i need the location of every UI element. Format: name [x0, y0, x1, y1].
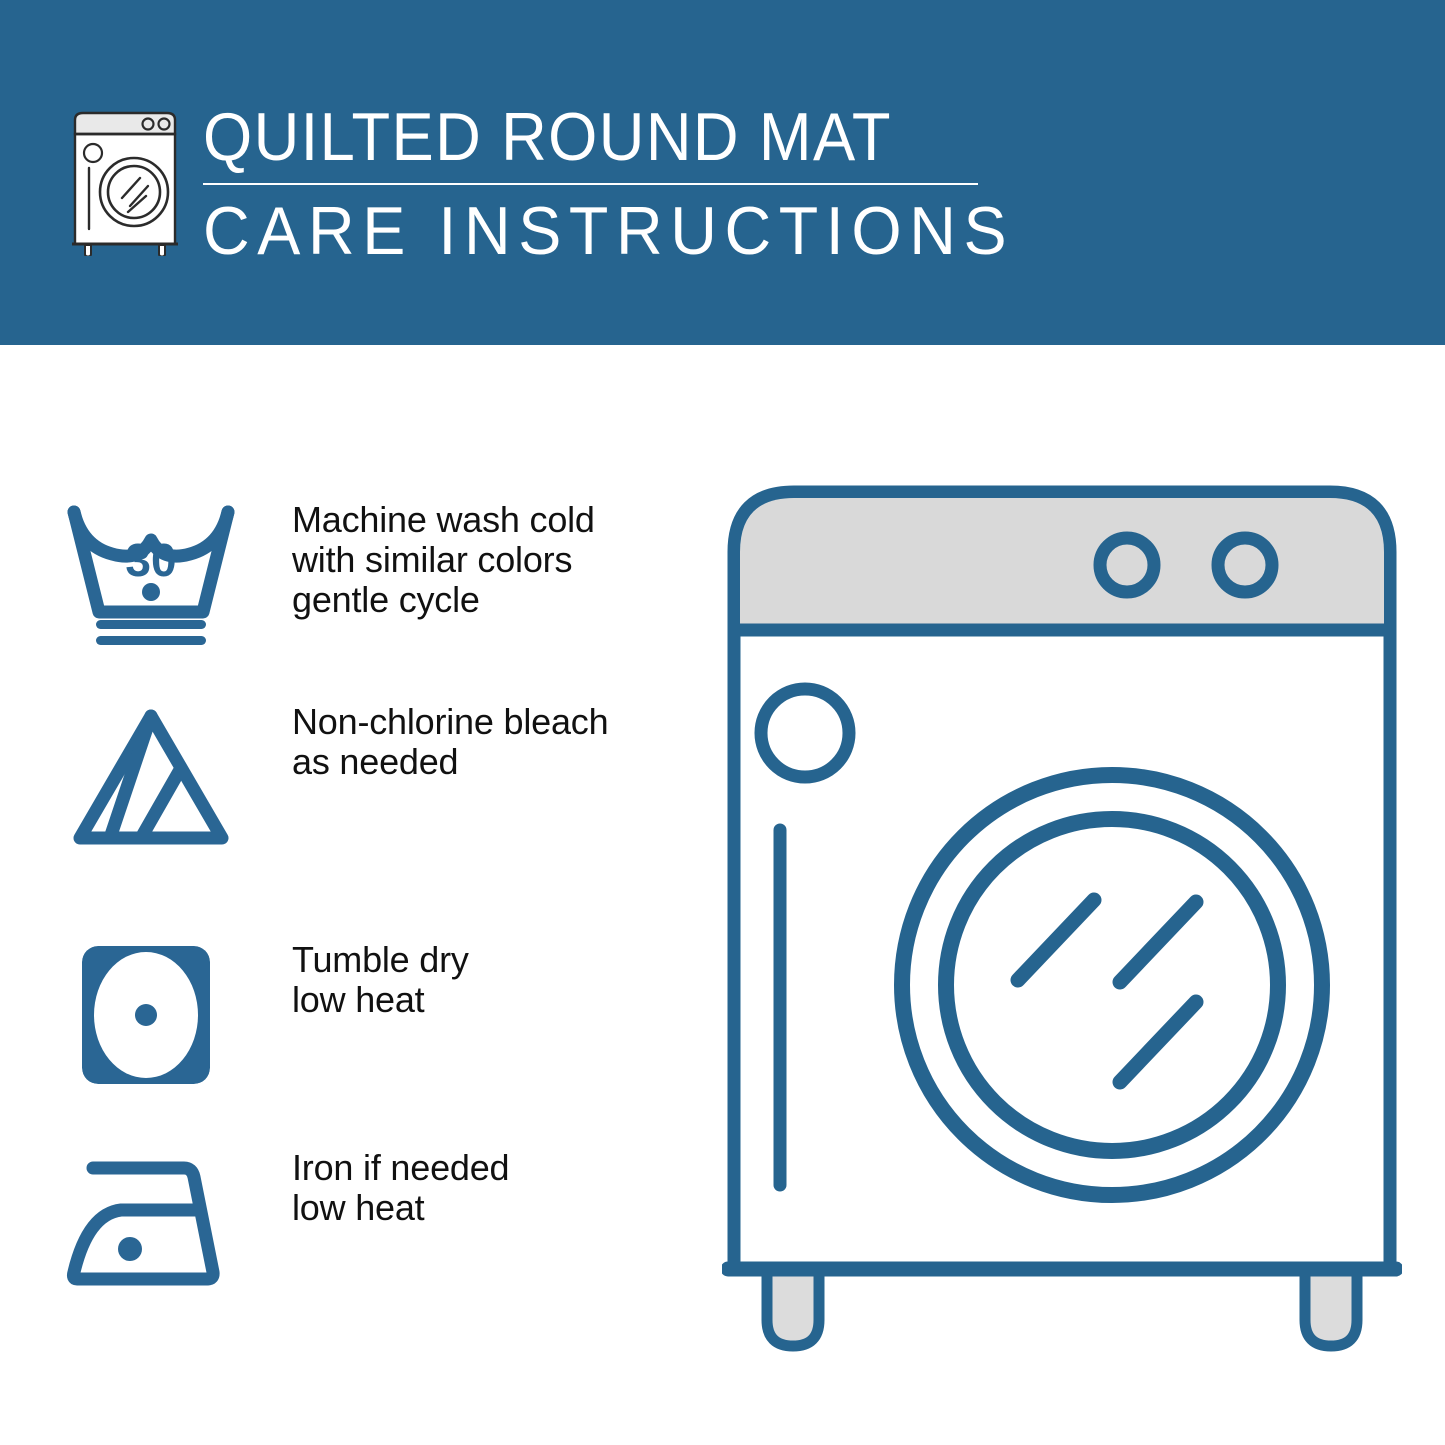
header-band: QUILTED ROUND MAT CARE INSTRUCTIONS	[0, 0, 1445, 345]
care-line: low heat	[292, 1188, 686, 1228]
care-line: low heat	[292, 980, 686, 1020]
care-line: Non-chlorine bleach	[292, 702, 686, 742]
care-instructions-infographic: QUILTED ROUND MAT CARE INSTRUCTIONS 30 M…	[0, 0, 1445, 1445]
care-line: gentle cycle	[292, 580, 686, 620]
care-line: Machine wash cold	[292, 500, 686, 540]
care-text-iron: Iron if needed low heat	[236, 1148, 686, 1228]
care-row-bleach: Non-chlorine bleach as needed	[66, 702, 686, 852]
care-row-tumble-dry: Tumble dry low heat	[66, 940, 686, 1090]
svg-text:30: 30	[125, 534, 176, 586]
care-line: with similar colors	[292, 540, 686, 580]
page-title: QUILTED ROUND MAT	[203, 100, 938, 174]
wash-basin-icon: 30	[66, 500, 236, 650]
tumble-dry-icon	[66, 940, 236, 1090]
care-text-machine-wash: Machine wash cold with similar colors ge…	[236, 500, 686, 620]
washing-machine-icon	[66, 106, 184, 256]
care-text-bleach: Non-chlorine bleach as needed	[236, 702, 686, 782]
care-line: Tumble dry	[292, 940, 686, 980]
leg-left	[767, 1266, 819, 1346]
washing-machine-illustration	[722, 480, 1402, 1370]
page-subtitle: CARE INSTRUCTIONS	[203, 193, 954, 269]
bleach-triangle-icon	[66, 702, 236, 852]
leg-right	[1305, 1266, 1357, 1346]
header-text-block: QUILTED ROUND MAT CARE INSTRUCTIONS	[203, 100, 993, 269]
care-row-iron: Iron if needed low heat	[66, 1148, 686, 1298]
care-row-machine-wash: 30 Machine wash cold with similar colors…	[66, 500, 686, 650]
care-text-tumble-dry: Tumble dry low heat	[236, 940, 686, 1020]
header-divider	[203, 183, 978, 185]
care-line: Iron if needed	[292, 1148, 686, 1188]
care-line: as needed	[292, 742, 686, 782]
iron-icon	[66, 1148, 236, 1298]
